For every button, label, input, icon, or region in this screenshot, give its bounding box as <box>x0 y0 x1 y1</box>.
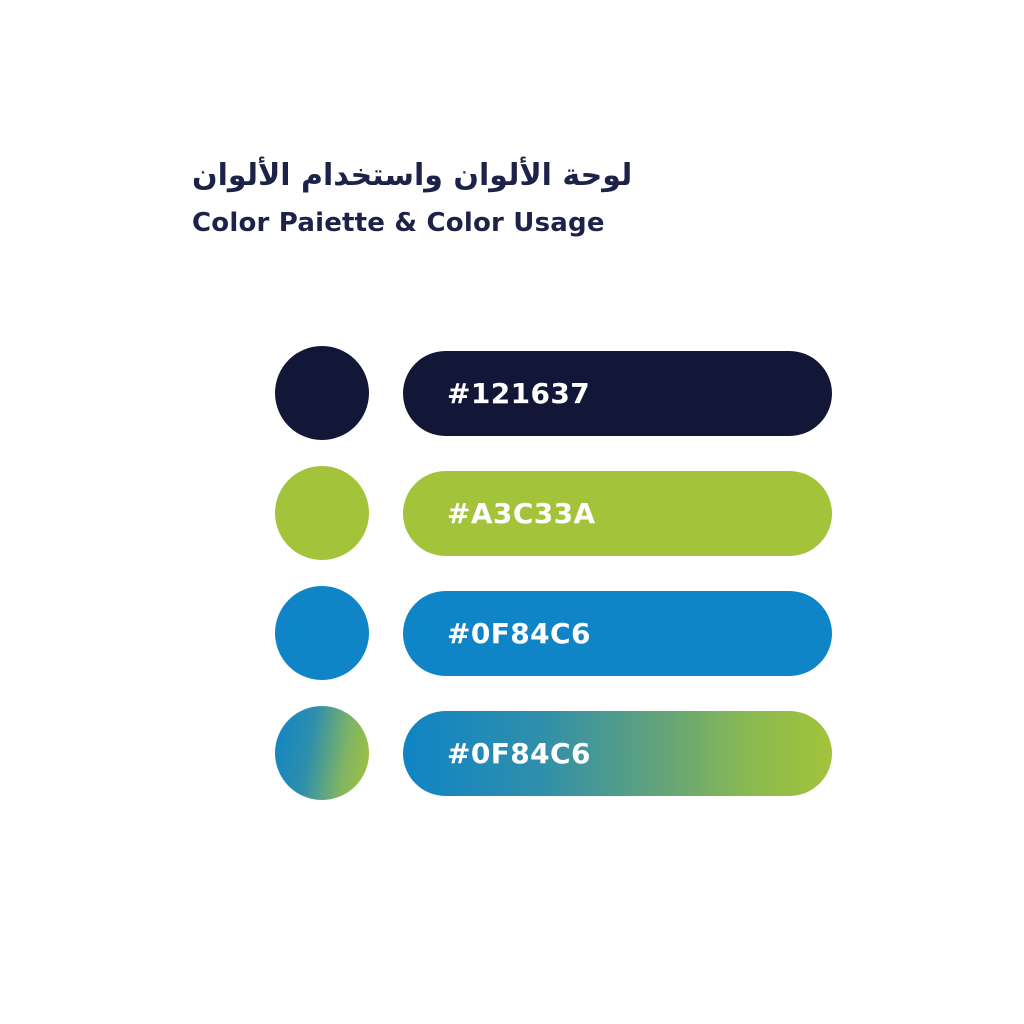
color-dot-gradient[interactable] <box>275 706 369 800</box>
color-hex-label-green: #A3C33A <box>447 497 596 530</box>
color-dot-green[interactable] <box>275 466 369 560</box>
swatch-row-green: #A3C33A <box>275 466 875 560</box>
color-hex-label-navy: #121637 <box>447 377 590 410</box>
color-pill-navy[interactable]: #121637 <box>403 351 832 436</box>
heading-block: لوحة الألوان واستخدام الألوان Color Paie… <box>192 155 892 241</box>
color-pill-green[interactable]: #A3C33A <box>403 471 832 556</box>
color-hex-label-gradient: #0F84C6 <box>447 737 591 770</box>
color-dot-navy[interactable] <box>275 346 369 440</box>
page-title-arabic: لوحة الألوان واستخدام الألوان <box>192 155 892 197</box>
swatch-row-gradient: #0F84C6 <box>275 706 875 800</box>
swatch-list: #121637 #A3C33A #0F84C6 #0F84C6 <box>275 346 875 800</box>
color-palette-page: لوحة الألوان واستخدام الألوان Color Paie… <box>0 0 1024 1024</box>
color-dot-blue[interactable] <box>275 586 369 680</box>
page-title-english: Color Paiette & Color Usage <box>192 205 892 241</box>
color-pill-blue[interactable]: #0F84C6 <box>403 591 832 676</box>
color-pill-gradient[interactable]: #0F84C6 <box>403 711 832 796</box>
swatch-row-navy: #121637 <box>275 346 875 440</box>
color-hex-label-blue: #0F84C6 <box>447 617 591 650</box>
swatch-row-blue: #0F84C6 <box>275 586 875 680</box>
